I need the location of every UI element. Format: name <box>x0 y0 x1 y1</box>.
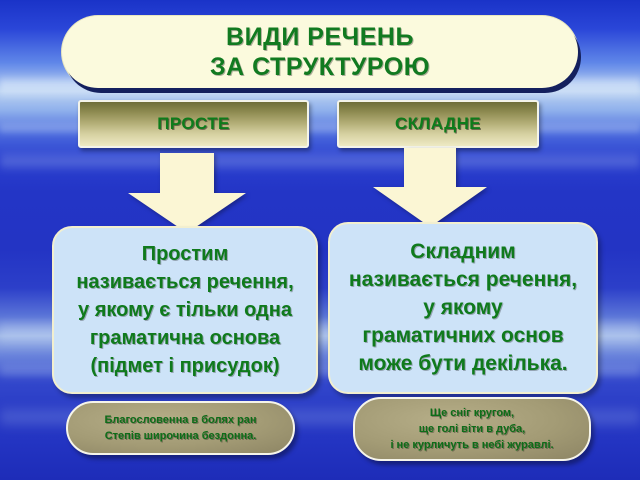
arrow-down-icon <box>128 153 246 233</box>
arrow-down-icon <box>373 148 487 227</box>
category-label-complex: СКЛАДНЕ <box>395 114 481 134</box>
example-box-simple: Благословенна в болях ран Степів широчин… <box>66 401 295 455</box>
background-haze-band <box>0 150 640 172</box>
example-text-complex: Ще сніг кругом, ще голі віти в дуба, і н… <box>390 405 553 453</box>
definition-box-simple: Простим називається речення, у якому є т… <box>52 226 318 394</box>
definition-text-simple: Простим називається речення, у якому є т… <box>76 240 293 380</box>
category-box-complex[interactable]: СКЛАДНЕ <box>337 100 539 148</box>
definition-text-complex: Складним називається речення, у якому гр… <box>349 238 577 378</box>
example-text-simple: Благословенна в болях ран Степів широчин… <box>104 412 256 444</box>
category-label-simple: ПРОСТЕ <box>157 114 230 134</box>
slide-title-box: ВИДИ РЕЧЕНЬ ЗА СТРУКТУРОЮ <box>62 16 578 88</box>
category-box-simple[interactable]: ПРОСТЕ <box>78 100 309 148</box>
page-title: ВИДИ РЕЧЕНЬ ЗА СТРУКТУРОЮ <box>210 22 430 82</box>
example-box-complex: Ще сніг кругом, ще голі віти в дуба, і н… <box>353 397 591 461</box>
definition-box-complex: Складним називається речення, у якому гр… <box>328 222 598 394</box>
slide-canvas: ВИДИ РЕЧЕНЬ ЗА СТРУКТУРОЮ ПРОСТЕ СКЛАДНЕ… <box>0 0 640 480</box>
